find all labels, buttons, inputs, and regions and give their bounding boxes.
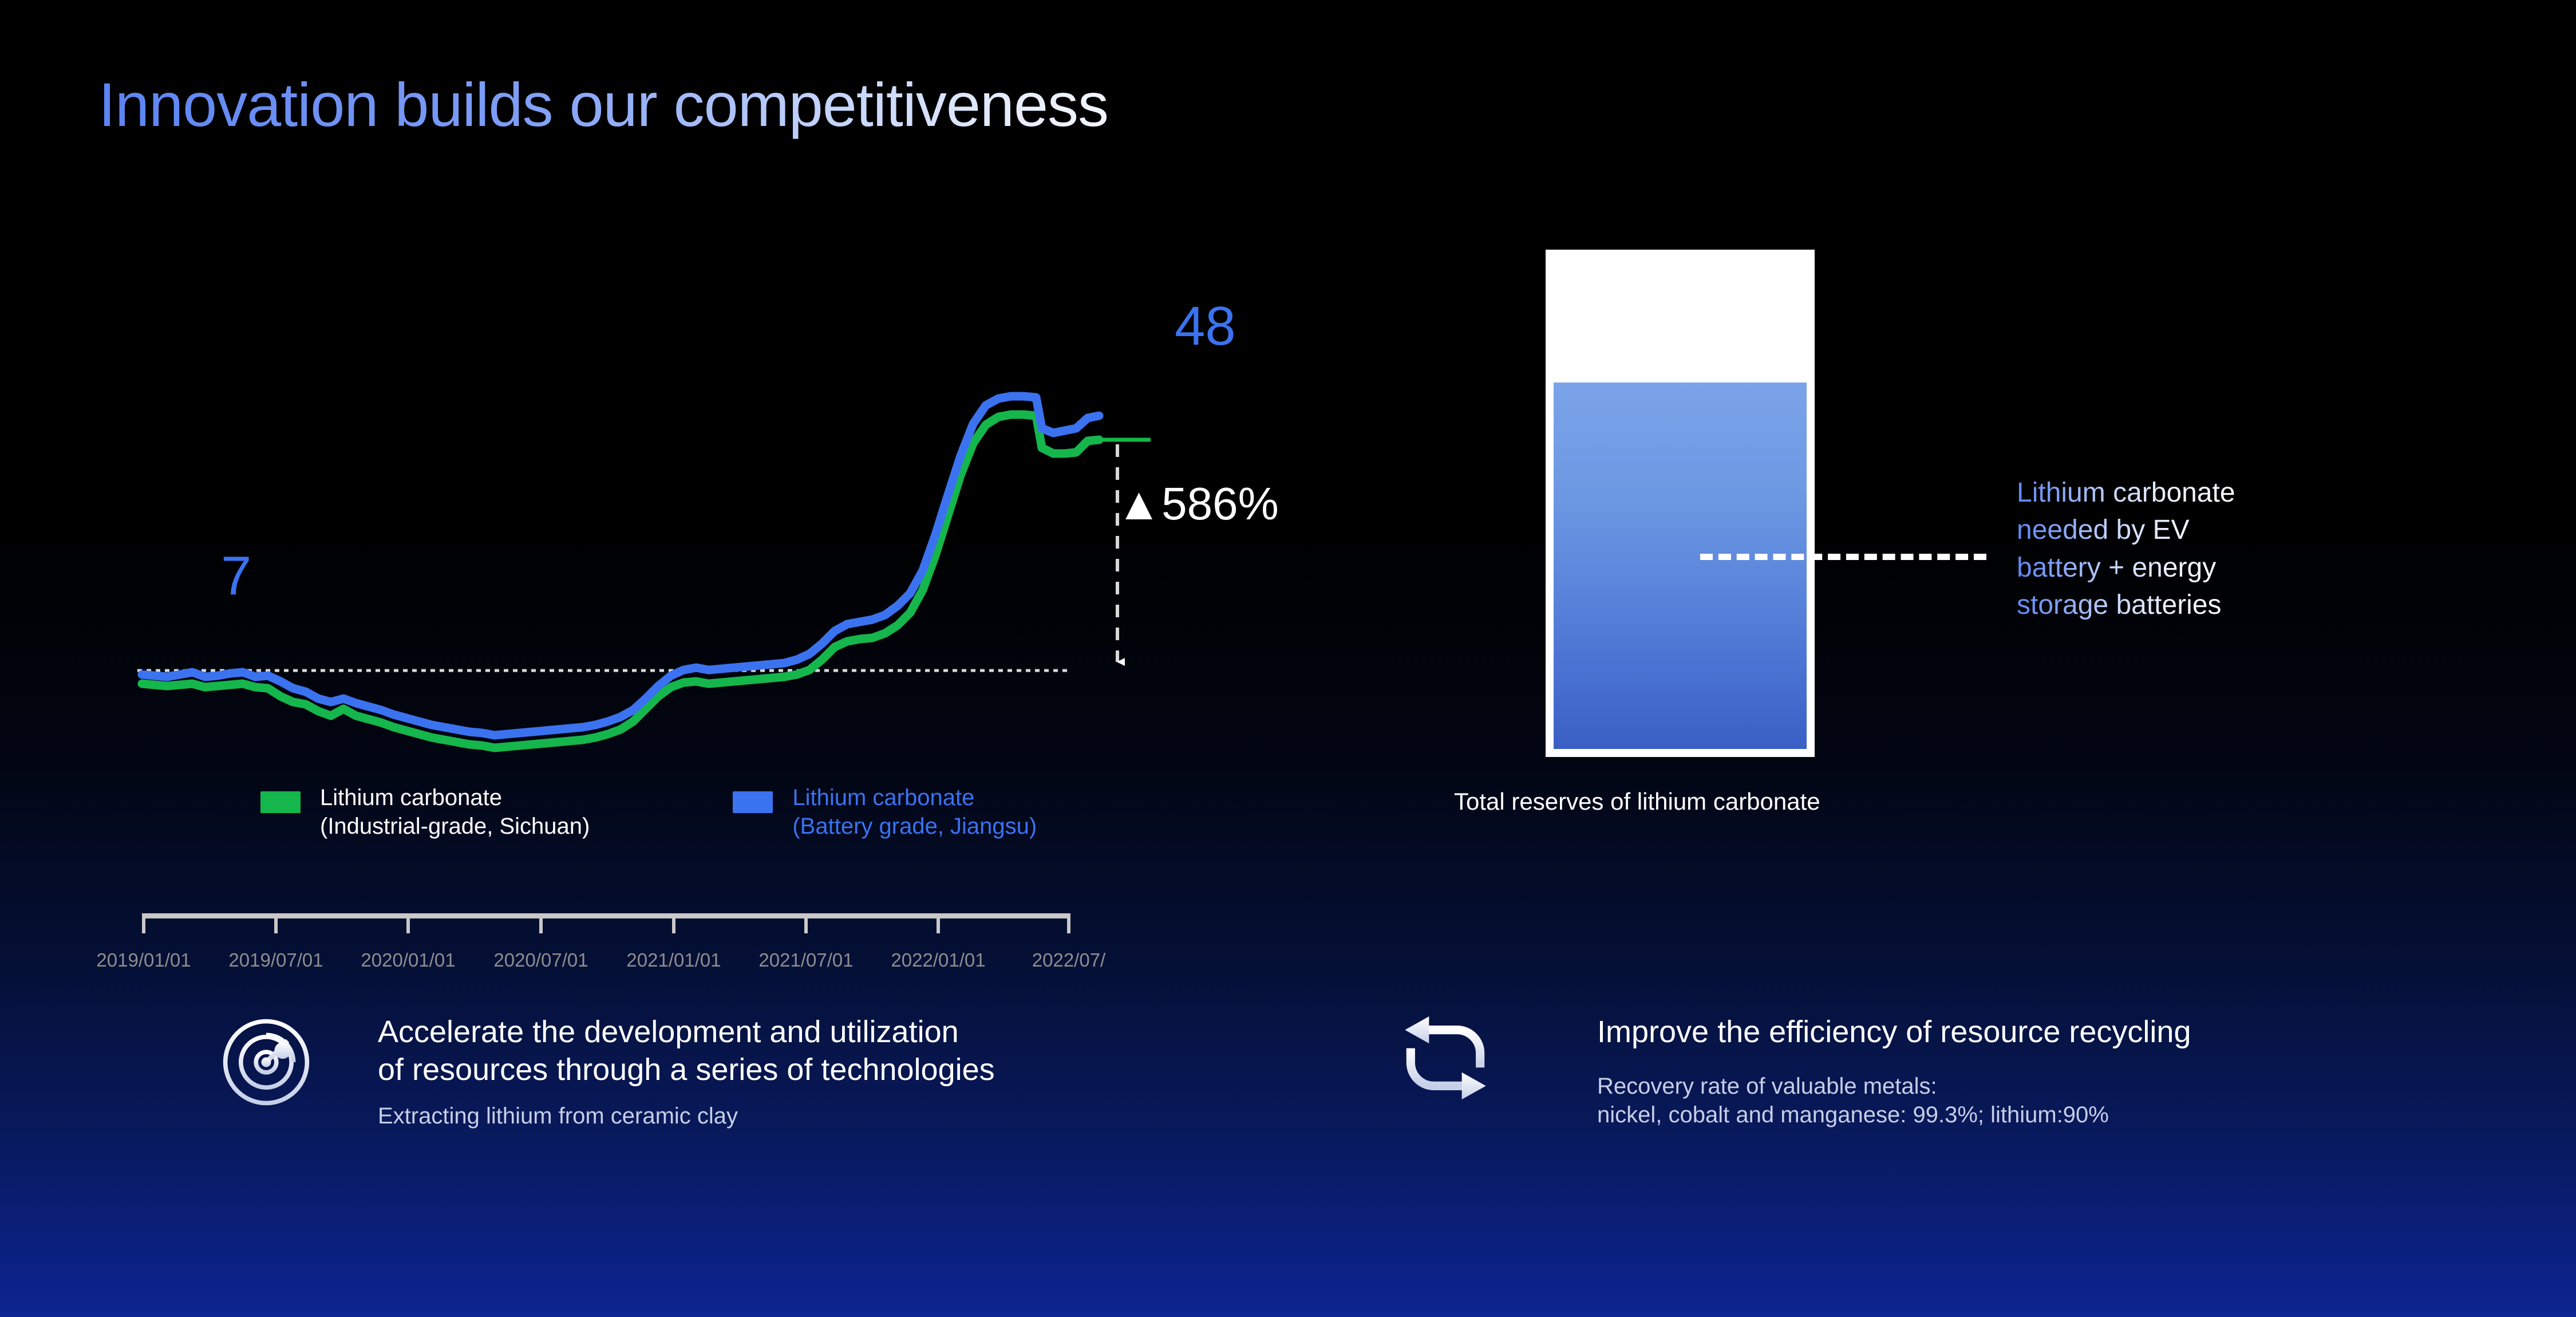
x-tick-label: 2020/07/01: [493, 949, 588, 971]
x-tick-label: 2021/01/01: [626, 949, 721, 971]
legend-label-industrial: Lithium carbonate (Industrial-grade, Sic…: [320, 783, 590, 841]
end-value-label: 48: [1175, 299, 1236, 354]
x-tick-label: 2021/07/01: [758, 949, 853, 971]
legend-swatch-green: [260, 791, 301, 813]
percent-change-label: ▲586%: [1116, 481, 1279, 527]
reserves-container: [1546, 250, 1815, 757]
x-tick-label: 2019/01/01: [96, 949, 191, 971]
feature-title: Accelerate the development and utilizati…: [378, 1015, 995, 1087]
reserves-empty-portion: [1554, 258, 1807, 391]
feature-text-group: Improve the efficiency of resource recyc…: [1597, 1014, 2191, 1130]
x-axis-ticks: [144, 918, 1069, 933]
reserves-filled-portion: [1554, 383, 1807, 749]
recycle-arrows-icon: [1397, 1014, 1494, 1105]
legend-line-1: Lithium carbonate: [792, 785, 974, 810]
x-tick-label: 2022/01/01: [891, 949, 985, 971]
radar-target-icon: [218, 1014, 315, 1114]
x-tick-label: 2020/01/01: [361, 949, 455, 971]
legend-line-2: (Industrial-grade, Sichuan): [320, 814, 590, 839]
feature-title: Improve the efficiency of resource recyc…: [1597, 1015, 2191, 1049]
legend-line-1: Lithium carbonate: [320, 785, 502, 810]
feature-subtitle: Extracting lithium from ceramic clay: [378, 1102, 995, 1130]
x-axis-line: [142, 913, 1070, 918]
reserves-need-label: Lithium carbonate needed by EV battery +…: [2017, 474, 2235, 624]
start-value-label: 7: [221, 549, 251, 604]
feature-block-resource-recycling: Improve the efficiency of resource recyc…: [1397, 1014, 2191, 1130]
reserves-diagram: [1546, 250, 1815, 757]
feature-text-group: Accelerate the development and utilizati…: [378, 1014, 995, 1130]
legend-label-battery: Lithium carbonate (Battery grade, Jiangs…: [792, 783, 1037, 841]
legend-line-2: (Battery grade, Jiangsu): [792, 814, 1037, 839]
feature-block-resource-development: Accelerate the development and utilizati…: [218, 1014, 995, 1130]
legend-item-battery-grade[interactable]: Lithium carbonate (Battery grade, Jiangs…: [733, 783, 1037, 841]
reserves-need-indicator-line: [1700, 554, 1986, 560]
feature-subtitle: Recovery rate of valuable metals: nickel…: [1597, 1072, 2191, 1130]
reserves-need-line-3: battery + energy: [2017, 553, 2216, 583]
chart-legend: Lithium carbonate (Industrial-grade, Sic…: [260, 783, 1037, 841]
legend-item-industrial-grade[interactable]: Lithium carbonate (Industrial-grade, Sic…: [260, 783, 590, 841]
slide-canvas: Innovation builds our competitiveness: [0, 0, 2576, 1317]
x-tick-label: 2022/07/: [1032, 949, 1105, 971]
legend-swatch-blue: [733, 791, 773, 813]
page-title: Innovation builds our competitiveness: [98, 69, 1108, 140]
x-tick-label: 2019/07/01: [228, 949, 323, 971]
reserves-need-line-2: needed by EV: [2017, 515, 2190, 545]
reserves-caption: Total reserves of lithium carbonate: [1454, 788, 1820, 815]
reserves-need-line-4: storage batteries: [2017, 590, 2222, 620]
series-line-battery-grade: [142, 396, 1099, 735]
reserves-need-line-1: Lithium carbonate: [2017, 478, 2235, 508]
